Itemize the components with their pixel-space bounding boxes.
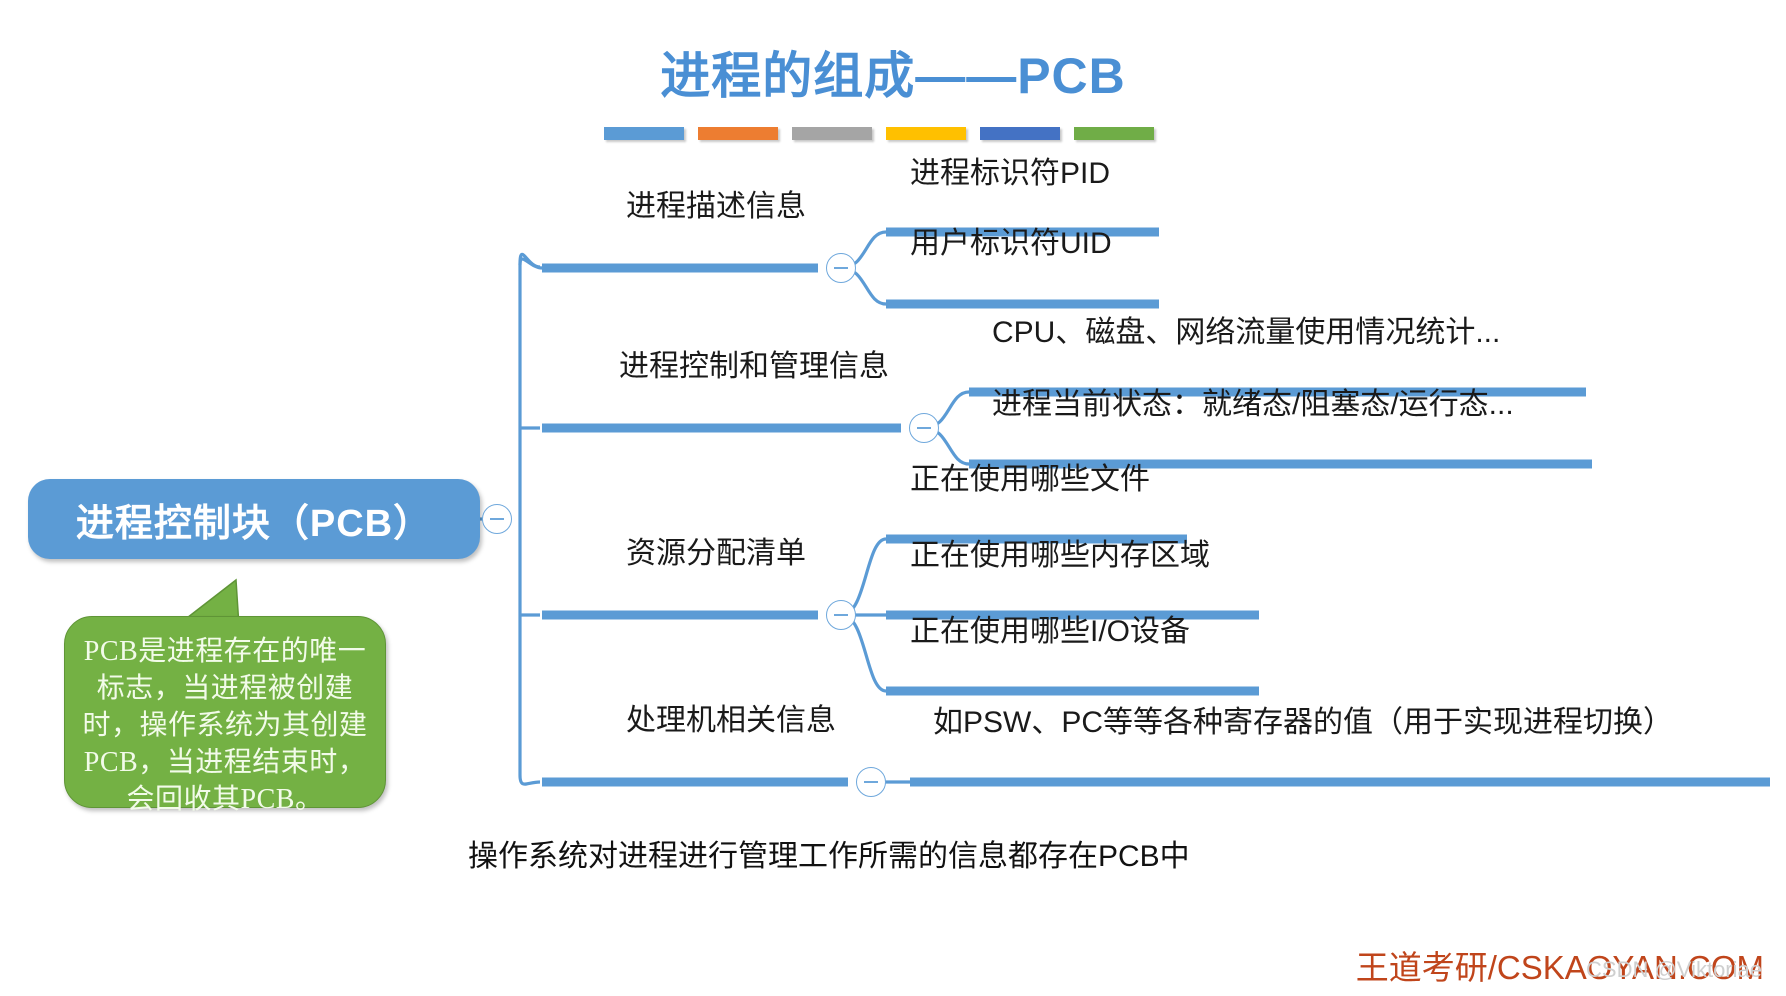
accent-bar-gray xyxy=(792,127,872,140)
leaf-label-process-state[interactable]: 进程当前状态：就绪态/阻塞态/运行态... xyxy=(992,388,1514,421)
collapse-minus-icon-branch-3[interactable] xyxy=(826,600,856,630)
accent-bar-green xyxy=(1074,127,1154,140)
slide-canvas: 进程的组成——PCB xyxy=(0,0,1786,996)
collapse-minus-icon-root[interactable] xyxy=(482,504,512,534)
accent-bar-gold xyxy=(886,127,966,140)
collapse-minus-icon-branch-1[interactable] xyxy=(826,253,856,283)
leaf-label-io-devices-in-use[interactable]: 正在使用哪些I/O设备 xyxy=(910,615,1190,648)
branch-label-resource-list[interactable]: 资源分配清单 xyxy=(510,537,806,570)
page-title: 进程的组成——PCB xyxy=(0,36,1786,108)
accent-bar-group xyxy=(604,127,1154,140)
branch-label-processor-info[interactable]: 处理机相关信息 xyxy=(510,704,836,737)
leaf-label-files-in-use[interactable]: 正在使用哪些文件 xyxy=(910,463,1150,496)
branch-label-process-control[interactable]: 进程控制和管理信息 xyxy=(510,350,889,383)
leaf-label-uid[interactable]: 用户标识符UID xyxy=(910,227,1112,260)
mindmap-root-node[interactable]: 进程控制块（PCB） xyxy=(28,479,480,559)
leaf-label-registers[interactable]: 如PSW、PC等等各种寄存器的值（用于实现进程切换） xyxy=(933,706,1673,739)
branch-label-process-description[interactable]: 进程描述信息 xyxy=(510,190,806,223)
collapse-minus-icon-branch-4[interactable] xyxy=(856,767,886,797)
slide-caption: 操作系统对进程进行管理工作所需的信息都存在PCB中 xyxy=(468,831,1190,875)
mindmap-root-label: 进程控制块（PCB） xyxy=(76,492,432,547)
leaf-label-usage-stats[interactable]: CPU、磁盘、网络流量使用情况统计... xyxy=(992,316,1500,349)
collapse-minus-icon-branch-2[interactable] xyxy=(909,413,939,443)
leaf-label-memory-in-use[interactable]: 正在使用哪些内存区域 xyxy=(910,539,1210,572)
callout-text: PCB是进程存在的唯一标志，当进程被创建时，操作系统为其创建PCB，当进程结束时… xyxy=(80,634,370,819)
accent-bar-blue xyxy=(980,127,1060,140)
accent-bar-light-blue xyxy=(604,127,684,140)
leaf-label-pid[interactable]: 进程标识符PID xyxy=(910,157,1110,190)
csdn-watermark: CSDN @Viktoriae xyxy=(1586,957,1762,983)
callout-bubble: PCB是进程存在的唯一标志，当进程被创建时，操作系统为其创建PCB，当进程结束时… xyxy=(64,572,386,808)
accent-bar-orange xyxy=(698,127,778,140)
